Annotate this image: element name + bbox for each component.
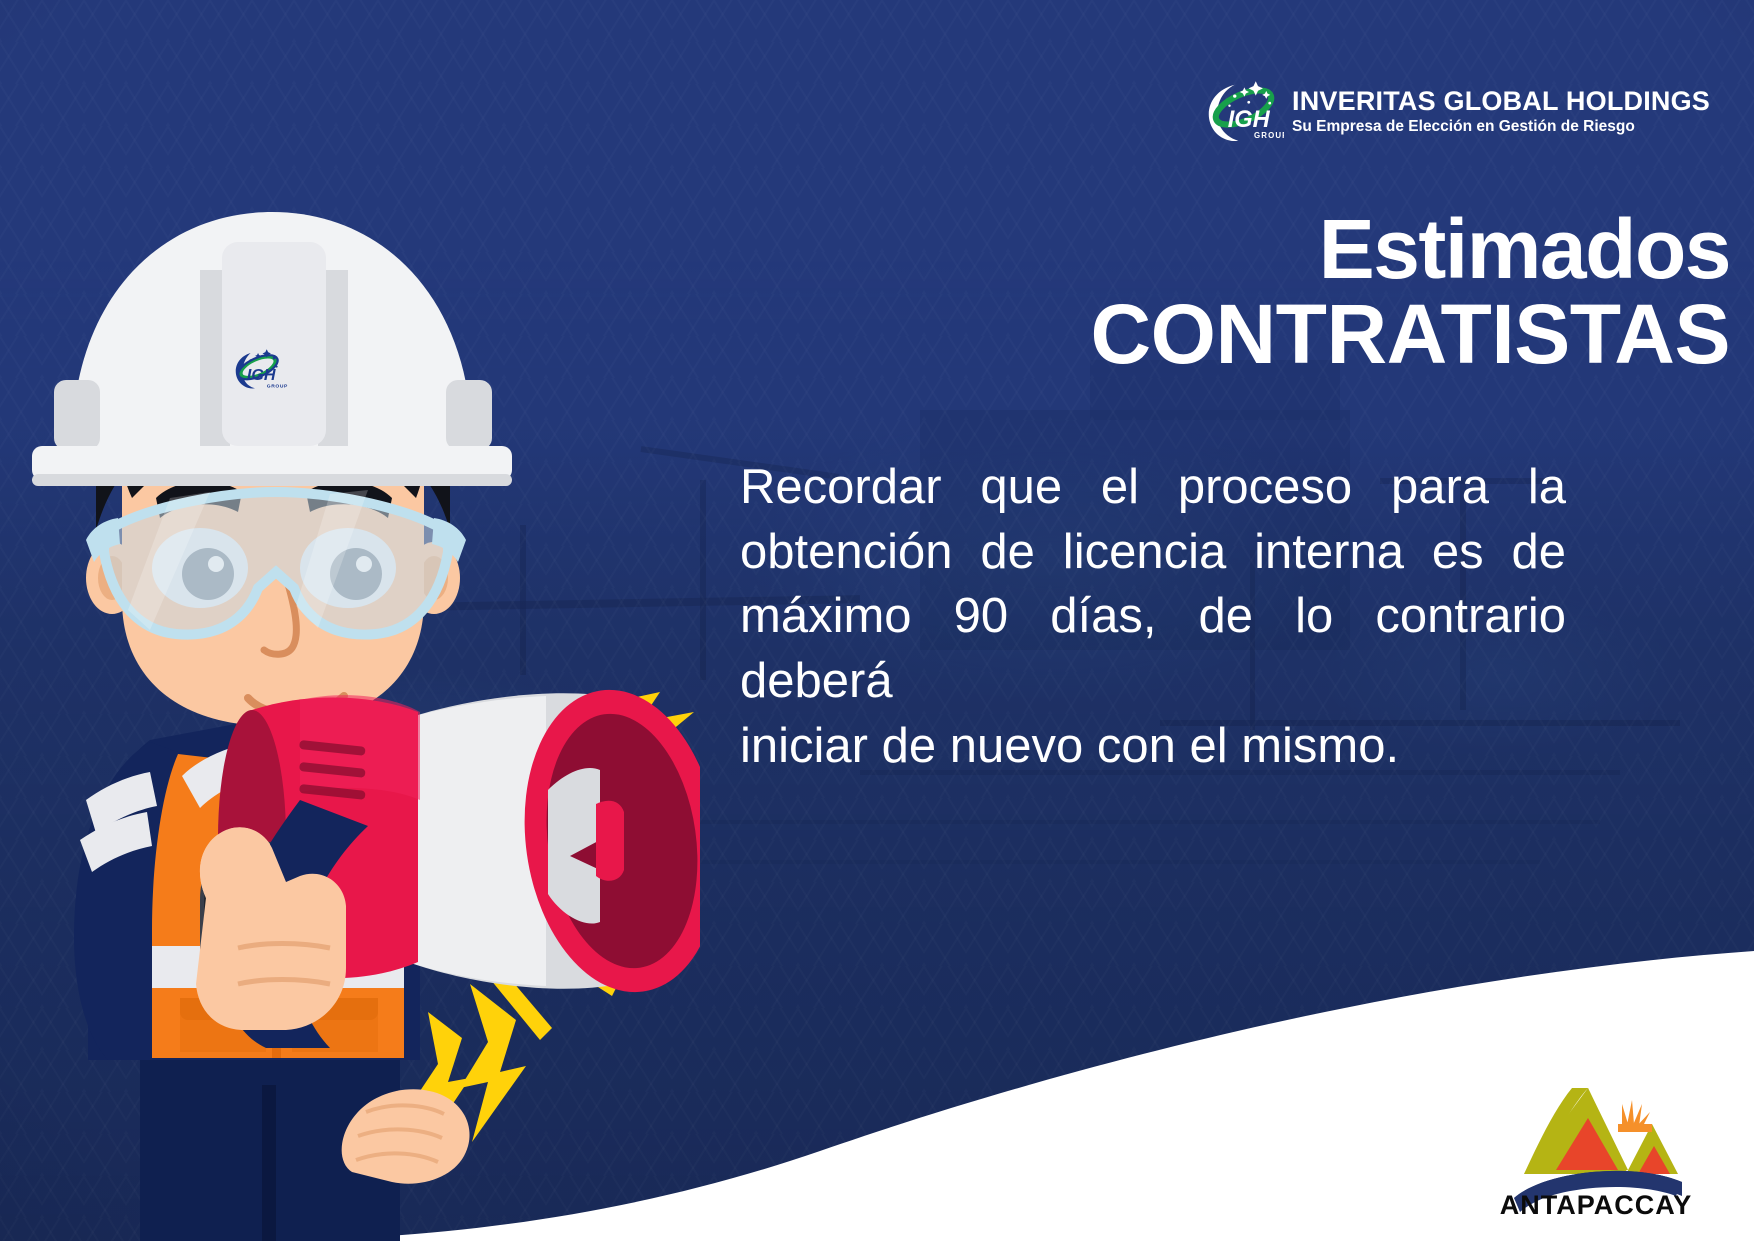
igh-globe-icon: IGH GROUP [1196,76,1284,146]
svg-text:IGH: IGH [247,366,276,384]
poster-canvas: IGH GROUP INVERITAS GLOBAL HOLDINGS Su E… [0,0,1754,1241]
headline-line-1: Estimados [830,208,1730,290]
worker-illustration: IGH GROUP [0,100,700,1241]
body-message: Recordar que el proceso para la obtenció… [740,455,1566,778]
antapaccay-wordmark: ANTAPACCAY [1500,1190,1693,1220]
headline-line-2: CONTRATISTAS [830,292,1730,376]
body-line-3: máximo 90 días, de lo contrario deberá [740,584,1566,713]
hard-hat [32,212,512,486]
svg-text:GROUP: GROUP [1254,131,1284,140]
svg-text:GROUP: GROUP [267,384,288,390]
body-line-4: iniciar de nuevo con el mismo. [740,714,1566,779]
body-line-1: Recordar que el proceso para la [740,455,1566,520]
brand-name: INVERITAS GLOBAL HOLDINGS [1292,88,1710,115]
body-line-2: obtención de licencia interna es de [740,520,1566,585]
brand-tagline: Su Empresa de Elección en Gestión de Rie… [1292,119,1710,135]
brand-logo-header: IGH GROUP INVERITAS GLOBAL HOLDINGS Su E… [1196,76,1710,146]
antapaccay-logo: ANTAPACCAY [1476,1062,1716,1222]
svg-text:IGH: IGH [1228,107,1271,133]
page-title: Estimados CONTRATISTAS [830,208,1730,376]
